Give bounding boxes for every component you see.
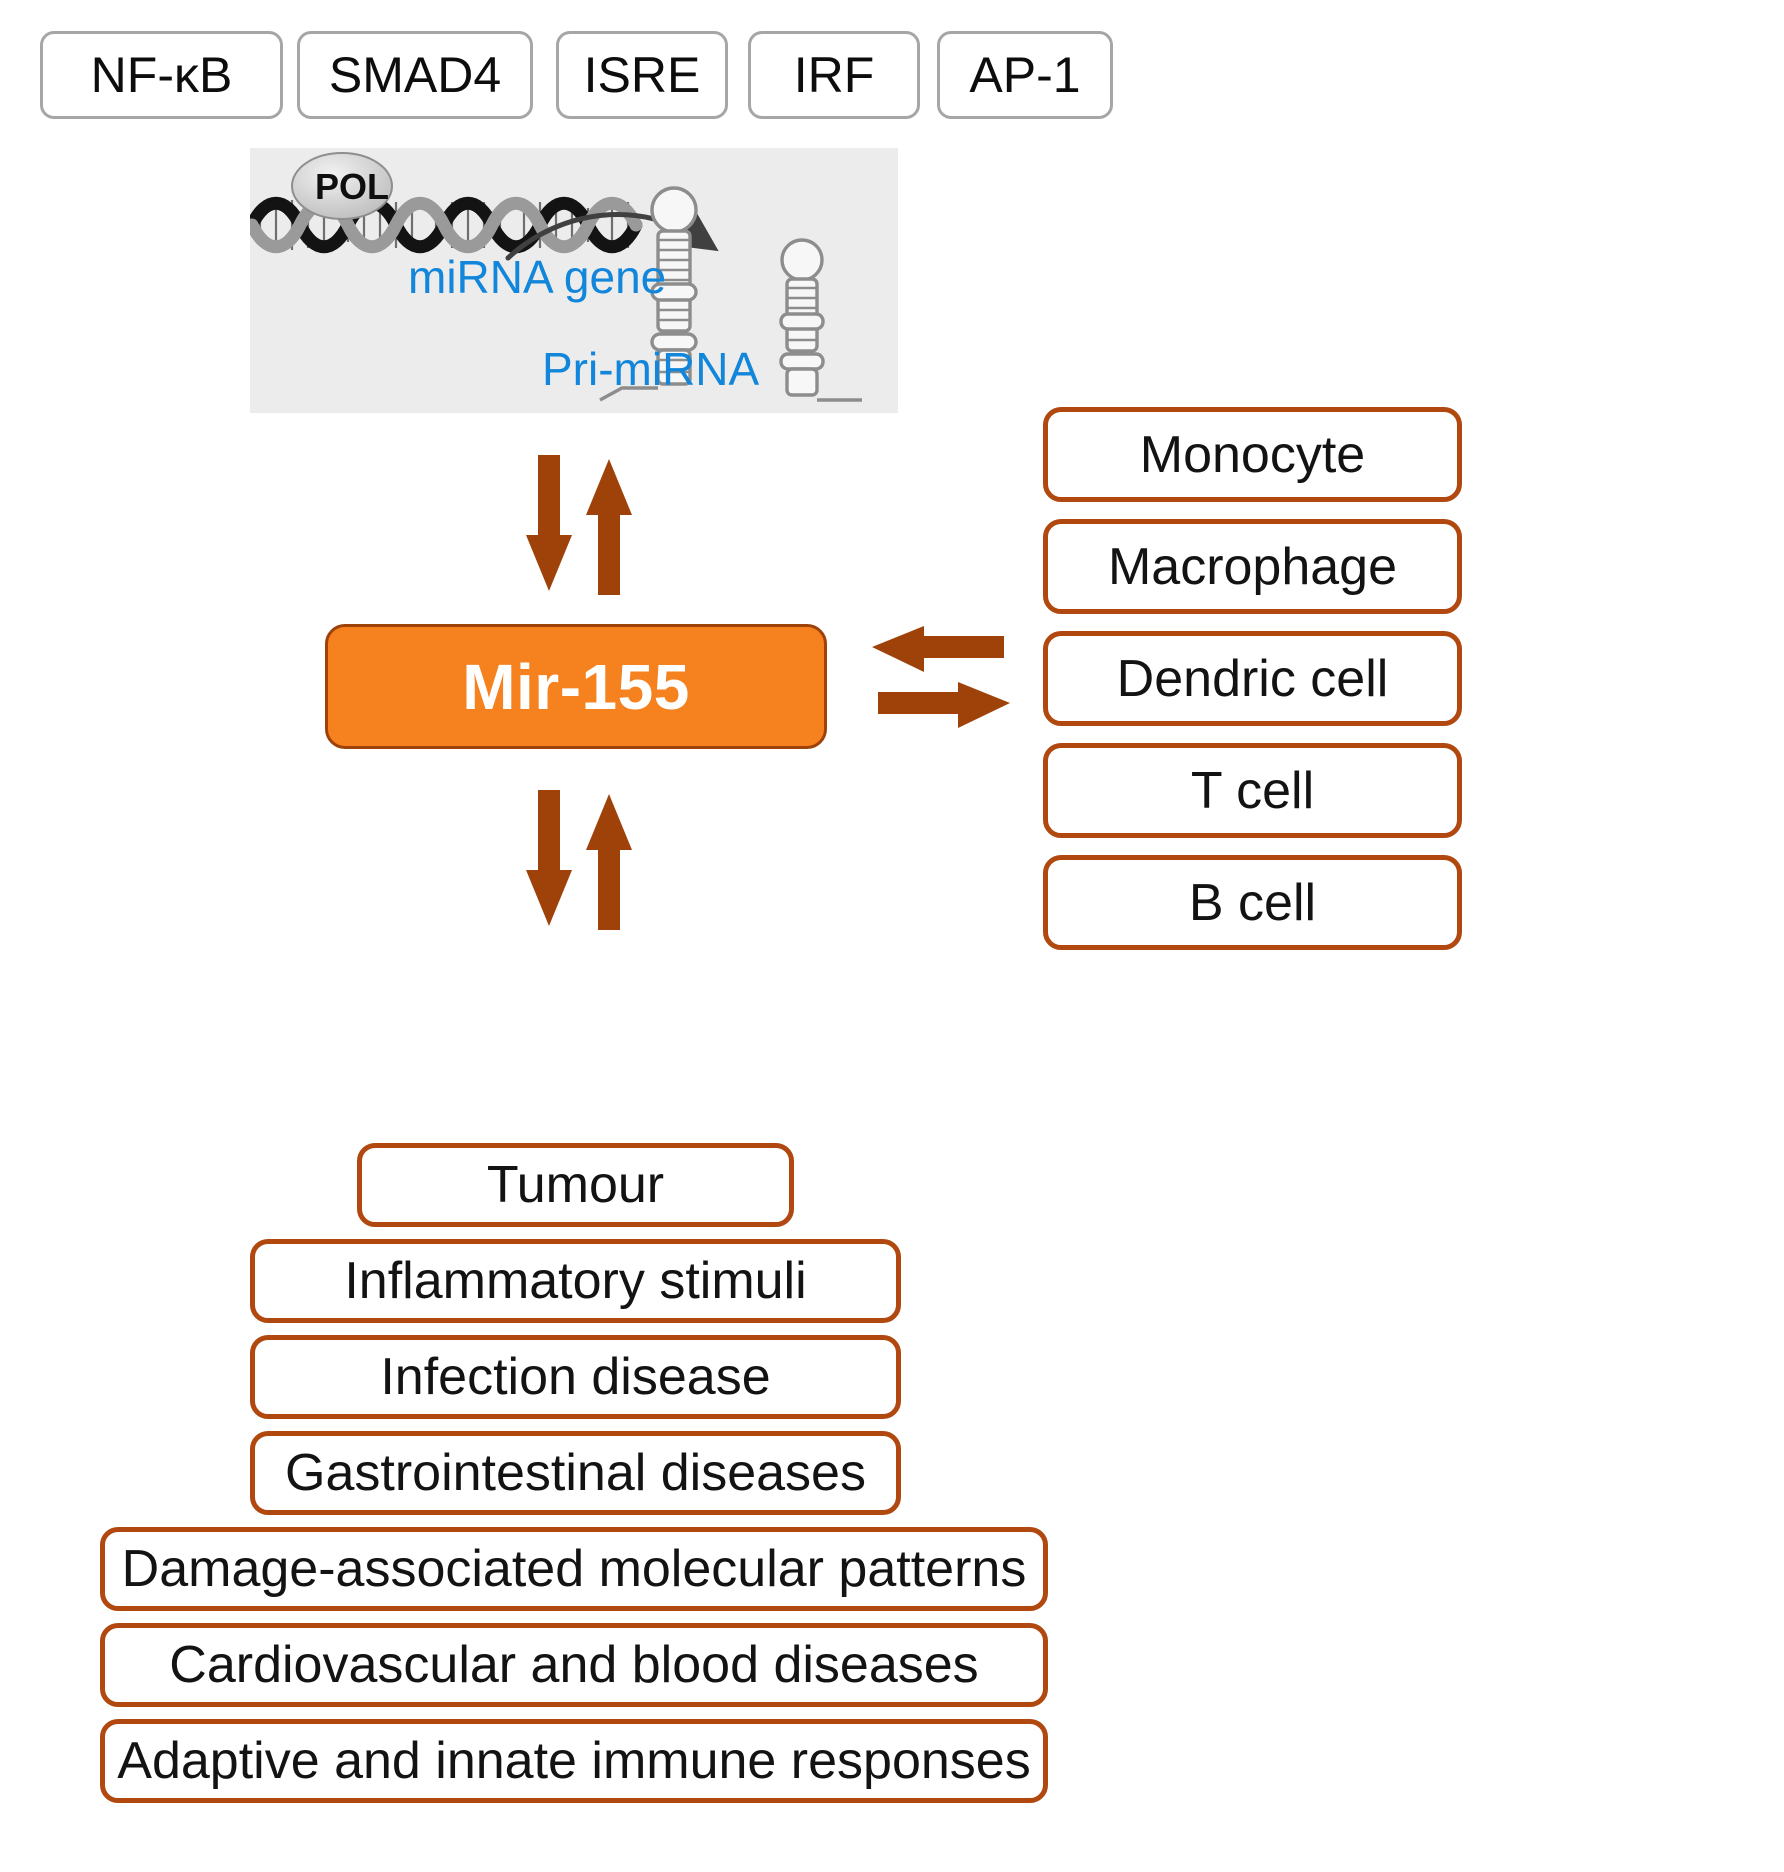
mirna-gene-label: miRNA gene (408, 254, 666, 300)
cell-box-t-cell[interactable]: T cell (1043, 743, 1462, 838)
left-arrow-icon (872, 626, 1004, 672)
tf-label: SMAD4 (329, 50, 501, 100)
cell-box-monocyte[interactable]: Monocyte (1043, 407, 1462, 502)
tf-box-nfkb[interactable]: NF-κB (40, 31, 283, 119)
tf-label: IRF (794, 50, 875, 100)
context-box-cardiovascular-and-blood-diseases[interactable]: Cardiovascular and blood diseases (100, 1623, 1048, 1707)
mir-disease-arrow-pair (520, 790, 650, 930)
cell-box-dendric-cell[interactable]: Dendric cell (1043, 631, 1462, 726)
cell-label: T cell (1191, 765, 1314, 817)
context-box-tumour[interactable]: Tumour (357, 1143, 794, 1227)
right-arrow-icon (878, 682, 1010, 728)
tf-box-ap1[interactable]: AP-1 (937, 31, 1113, 119)
down-arrow-icon (526, 455, 572, 591)
pri-mirna-label: Pri-miRNA (542, 346, 759, 392)
context-label: Cardiovascular and blood diseases (169, 1639, 978, 1691)
cell-label: Monocyte (1140, 429, 1365, 481)
context-box-damage-associated-molecular-patterns[interactable]: Damage-associated molecular patterns (100, 1527, 1048, 1611)
down-arrow-icon (526, 790, 572, 926)
context-label: Tumour (487, 1159, 664, 1211)
cell-box-macrophage[interactable]: Macrophage (1043, 519, 1462, 614)
pri-mirna-hairpin-2 (781, 240, 862, 400)
context-label: Gastrointestinal diseases (285, 1447, 866, 1499)
context-box-infection-disease[interactable]: Infection disease (250, 1335, 901, 1419)
context-label: Inflammatory stimuli (344, 1255, 806, 1307)
context-box-inflammatory-stimuli[interactable]: Inflammatory stimuli (250, 1239, 901, 1323)
cell-label: Macrophage (1108, 541, 1397, 593)
pol-label: POL (310, 166, 394, 208)
mir-cells-arrow-pair (878, 630, 1008, 735)
tf-box-irf[interactable]: IRF (748, 31, 920, 119)
mir-155-node[interactable]: Mir-155 (325, 624, 827, 749)
context-label: Infection disease (380, 1351, 770, 1403)
tf-label: NF-κB (91, 50, 233, 100)
cell-box-b-cell[interactable]: B cell (1043, 855, 1462, 950)
cell-label: B cell (1189, 877, 1316, 929)
tf-box-isre[interactable]: ISRE (556, 31, 728, 119)
up-arrow-icon (586, 794, 632, 930)
context-label: Damage-associated molecular patterns (122, 1543, 1027, 1595)
tf-box-smad4[interactable]: SMAD4 (297, 31, 533, 119)
gene-mir-arrow-pair (520, 455, 650, 595)
context-box-adaptive-and-innate-immune-responses[interactable]: Adaptive and innate immune responses (100, 1719, 1048, 1803)
context-box-gastrointestinal-diseases[interactable]: Gastrointestinal diseases (250, 1431, 901, 1515)
up-arrow-icon (586, 459, 632, 595)
cell-label: Dendric cell (1117, 653, 1389, 705)
tf-label: AP-1 (969, 50, 1080, 100)
context-label: Adaptive and innate immune responses (117, 1735, 1030, 1787)
diagram-canvas: NF-κB SMAD4 ISRE IRF AP-1 (0, 0, 1784, 1872)
tf-label: ISRE (584, 50, 701, 100)
mir-155-label: Mir-155 (462, 650, 690, 724)
